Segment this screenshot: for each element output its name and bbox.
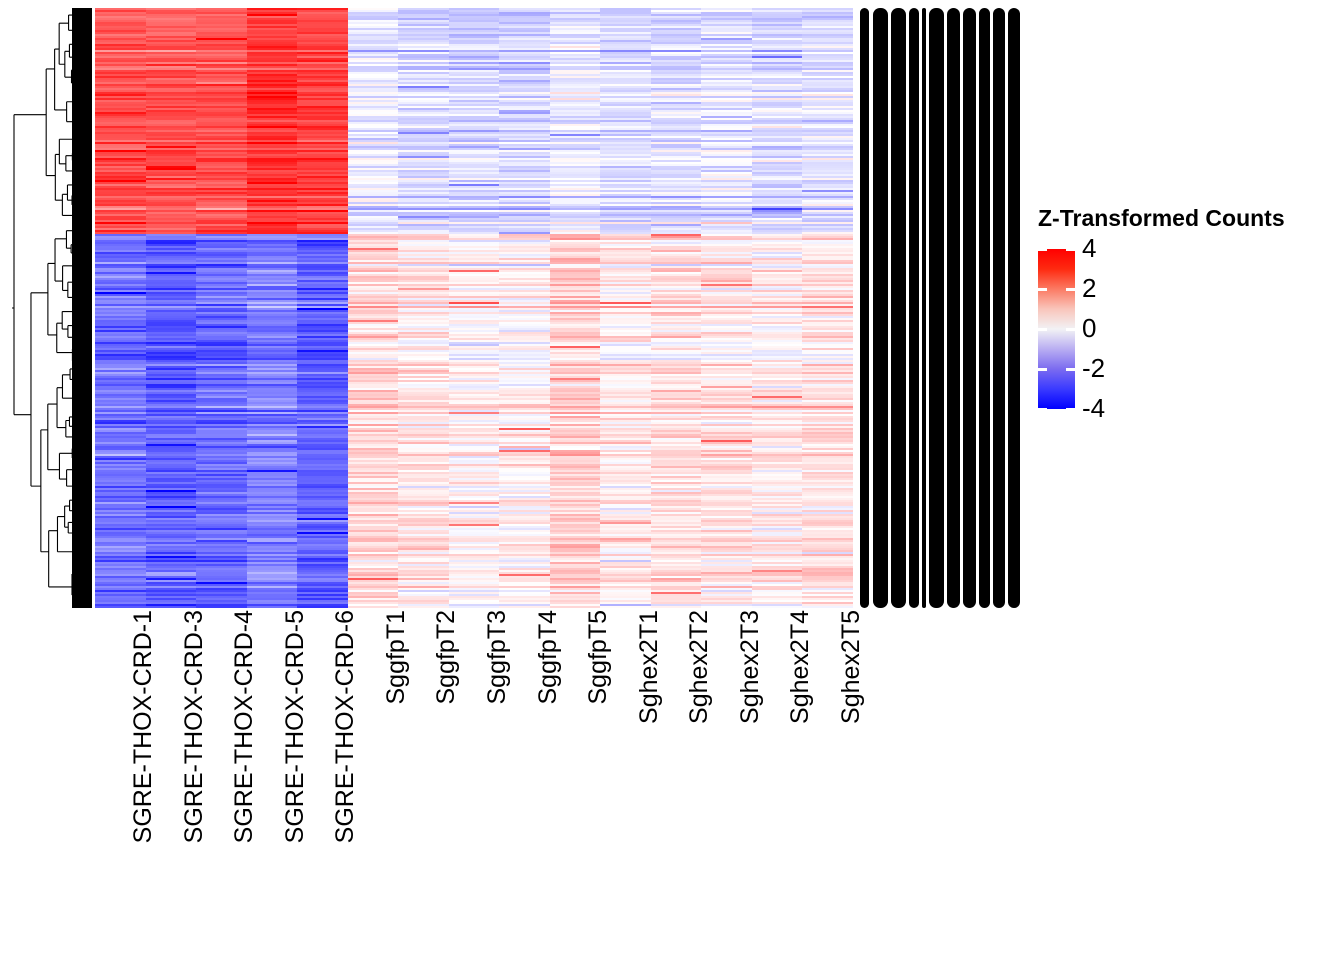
legend-tick	[1038, 248, 1047, 251]
heatmap-column	[701, 8, 752, 608]
legend-tick-label: -4	[1082, 395, 1105, 421]
column-label-sggfpt3: SggfpT3	[483, 610, 512, 705]
legend-tick	[1038, 328, 1047, 331]
heatmap-column	[651, 8, 702, 608]
legend-tick	[1066, 368, 1075, 371]
heatmap-grid	[95, 8, 853, 608]
legend-tick-label: 0	[1082, 315, 1096, 341]
row-label-bar	[922, 8, 926, 608]
column-label-sgre-thox-crd-1: SGRE-THOX-CRD-1	[129, 610, 158, 843]
legend-tick	[1038, 408, 1047, 411]
column-label-sggfpt2: SggfpT2	[432, 610, 461, 705]
heatmap-column	[752, 8, 803, 608]
legend-tick-label: 2	[1082, 275, 1096, 301]
legend-tick	[1066, 328, 1075, 331]
heatmap-column	[247, 8, 298, 608]
legend-title: Z-Transformed Counts	[1038, 205, 1285, 232]
row-label-bar	[909, 8, 919, 608]
heatmap-column	[348, 8, 399, 608]
column-label-sgre-thox-crd-4: SGRE-THOX-CRD-4	[230, 610, 259, 843]
column-label-sgre-thox-crd-5: SGRE-THOX-CRD-5	[281, 610, 310, 843]
heatmap-column	[550, 8, 601, 608]
legend-tick	[1066, 248, 1075, 251]
column-label-sgre-thox-crd-3: SGRE-THOX-CRD-3	[180, 610, 209, 843]
column-label-sghex2t5: Sghex2T5	[837, 610, 866, 724]
row-label-bar	[979, 8, 990, 608]
row-label-bar	[891, 8, 906, 608]
column-label-sghex2t3: Sghex2T3	[736, 610, 765, 724]
legend-tick	[1066, 288, 1075, 291]
heatmap-figure: SGRE-THOX-CRD-1SGRE-THOX-CRD-3SGRE-THOX-…	[0, 0, 1344, 960]
row-label-bar	[963, 8, 976, 608]
row-dendrogram	[12, 8, 92, 608]
heatmap-column	[95, 8, 146, 608]
heatmap-column	[146, 8, 197, 608]
column-label-sggfpt1: SggfpT1	[382, 610, 411, 705]
row-labels	[860, 8, 1020, 608]
row-label-bar	[929, 8, 944, 608]
row-label-bar	[860, 8, 869, 608]
heatmap-column	[600, 8, 651, 608]
row-label-bar	[947, 8, 960, 608]
legend-tick	[1038, 368, 1047, 371]
column-label-sghex2t1: Sghex2T1	[635, 610, 664, 724]
legend-tick-label: -2	[1082, 355, 1105, 381]
heatmap-column	[449, 8, 500, 608]
heatmap-column	[196, 8, 247, 608]
column-label-sghex2t4: Sghex2T4	[786, 610, 815, 724]
column-label-sghex2t2: Sghex2T2	[685, 610, 714, 724]
row-label-bar	[873, 8, 888, 608]
column-labels: SGRE-THOX-CRD-1SGRE-THOX-CRD-3SGRE-THOX-…	[95, 610, 853, 940]
legend-tick-label: 4	[1082, 235, 1096, 261]
legend: Z-Transformed Counts 420-2-4	[1036, 205, 1336, 420]
column-label-sggfpt5: SggfpT5	[584, 610, 613, 705]
heatmap-column	[802, 8, 853, 608]
column-label-sgre-thox-crd-6: SGRE-THOX-CRD-6	[331, 610, 360, 843]
legend-tick	[1038, 288, 1047, 291]
legend-tick	[1066, 408, 1075, 411]
row-label-bar	[993, 8, 1005, 608]
heatmap-column	[297, 8, 348, 608]
dendrogram-leaf-mass	[72, 8, 92, 608]
heatmap-column	[499, 8, 550, 608]
heatmap-column	[398, 8, 449, 608]
row-label-bar	[1008, 8, 1020, 608]
column-label-sggfpt4: SggfpT4	[534, 610, 563, 705]
